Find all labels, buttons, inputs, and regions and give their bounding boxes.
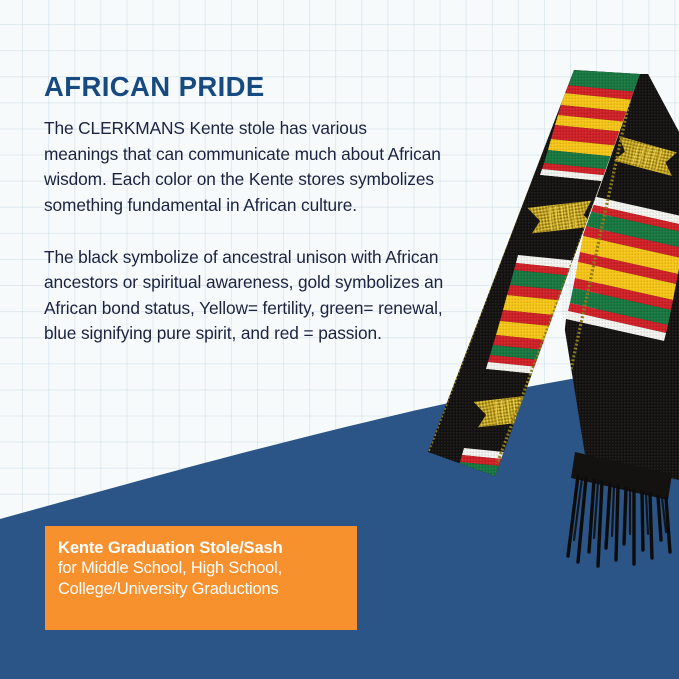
- description-paragraph-2: The black symbolize of ancestral unison …: [44, 245, 444, 347]
- product-callout-box: Kente Graduation Stole/Sash for Middle S…: [45, 526, 357, 630]
- callout-subtitle-1: for Middle School, High School,: [58, 558, 345, 579]
- callout-title: Kente Graduation Stole/Sash: [58, 537, 345, 558]
- text-column: AFRICAN PRIDE The CLERKMANS Kente stole …: [44, 72, 444, 347]
- callout-subtitle-2: College/University Graductions: [58, 579, 345, 600]
- page-title: AFRICAN PRIDE: [44, 72, 444, 102]
- description-paragraph-1: The CLERKMANS Kente stole has various me…: [44, 116, 444, 218]
- poster-canvas: AFRICAN PRIDE The CLERKMANS Kente stole …: [0, 0, 679, 679]
